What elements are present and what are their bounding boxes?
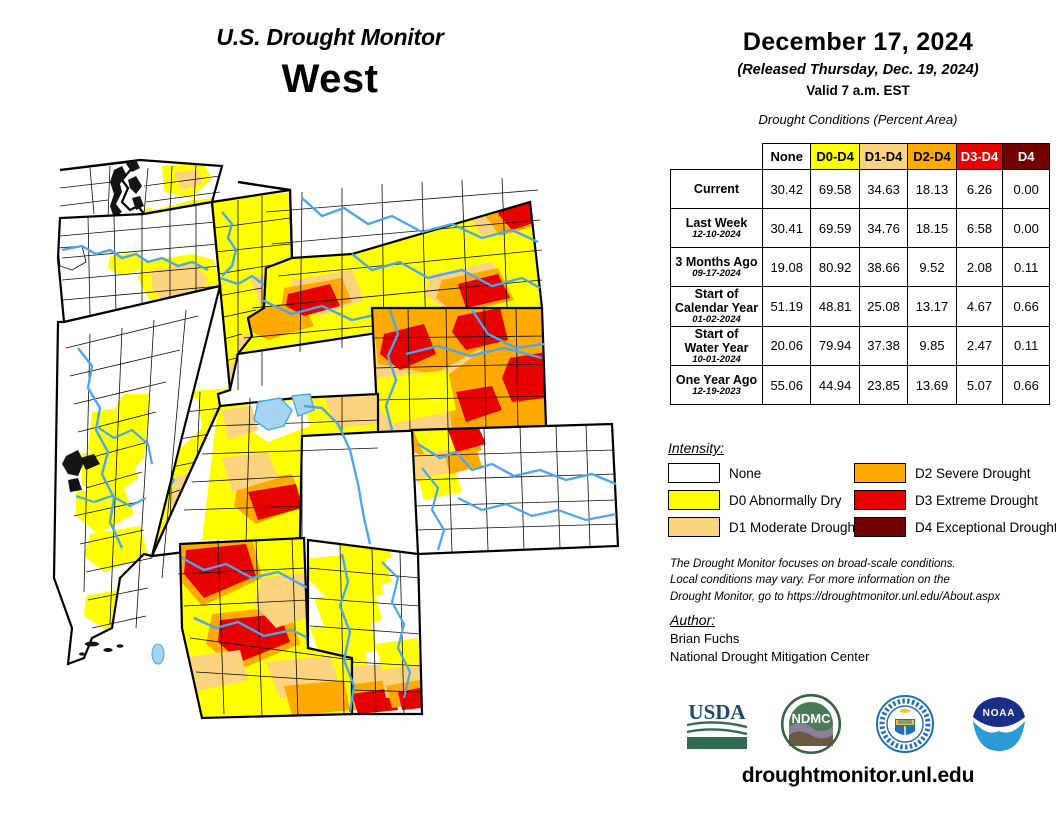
cell-value: 37.38 — [859, 326, 907, 366]
cell-value: 0.66 — [1003, 366, 1050, 405]
legend-label: D0 Abnormally Dry — [729, 493, 842, 508]
report-date: December 17, 2024 — [660, 28, 1056, 57]
cell-value: 38.66 — [859, 248, 907, 287]
legend-item-d0: D0 Abnormally Dry — [668, 490, 854, 510]
table-header-row: NoneD0-D4D1-D4D2-D4D3-D4D4 — [671, 144, 1050, 170]
us-drought-monitor-west-map[interactable] — [52, 158, 667, 773]
right-panel: December 17, 2024 (Released Thursday, De… — [660, 0, 1056, 816]
table-row: One Year Ago12-19-202355.0644.9423.8513.… — [671, 366, 1050, 405]
cell-value: 2.47 — [956, 326, 1003, 366]
legend-grid: NoneD2 Severe DroughtD0 Abnormally DryD3… — [668, 463, 1056, 537]
table-row: Start ofCalendar Year01-02-202451.1948.8… — [671, 287, 1050, 327]
author-title: Author: — [670, 612, 1050, 628]
column-header-d2-d4: D2-D4 — [908, 144, 956, 170]
column-header-d1-d4: D1-D4 — [859, 144, 907, 170]
cell-value: 48.81 — [811, 287, 859, 327]
legend-label: None — [729, 466, 761, 481]
intensity-legend: Intensity: NoneD2 Severe DroughtD0 Abnor… — [668, 440, 1056, 537]
legend-label: D3 Extreme Drought — [915, 493, 1038, 508]
svg-text:USDA: USDA — [688, 700, 746, 724]
header-blank-cell — [671, 144, 763, 170]
legend-item-d2: D2 Severe Drought — [854, 463, 1056, 483]
cell-value: 0.00 — [1003, 209, 1050, 248]
date-block: December 17, 2024 (Released Thursday, De… — [660, 0, 1056, 98]
noaa-seal-logo[interactable] — [869, 693, 941, 755]
legend-item-d4: D4 Exceptional Drought — [854, 517, 1056, 537]
cell-value: 30.42 — [763, 170, 811, 209]
cell-value: 18.15 — [908, 209, 956, 248]
svg-text:NDMC: NDMC — [792, 711, 832, 726]
table-header: NoneD0-D4D1-D4D2-D4D3-D4D4 — [671, 144, 1050, 170]
table-caption: Drought Conditions (Percent Area) — [660, 112, 1056, 127]
legend-swatch-d4 — [854, 517, 906, 537]
table-row: 3 Months Ago09-17-202419.0880.9238.669.5… — [671, 248, 1050, 287]
legend-label: D1 Moderate Drought — [729, 520, 859, 535]
legend-item-d3: D3 Extreme Drought — [854, 490, 1056, 510]
usda-logo[interactable]: USDA — [681, 693, 753, 755]
cell-value: 9.52 — [908, 248, 956, 287]
table-row: Current30.4269.5834.6318.136.260.00 — [671, 170, 1050, 209]
row-label: One Year Ago12-19-2023 — [671, 366, 763, 405]
cell-value: 19.08 — [763, 248, 811, 287]
row-label: Last Week12-10-2024 — [671, 209, 763, 248]
valid-time: Valid 7 a.m. EST — [660, 83, 1056, 98]
cell-value: 13.17 — [908, 287, 956, 327]
author-organization: National Drought Mitigation Center — [670, 649, 1050, 664]
cell-value: 0.11 — [1003, 326, 1050, 366]
cell-value: 69.59 — [811, 209, 859, 248]
cell-value: 51.19 — [763, 287, 811, 327]
table-row: Start ofWater Year10-01-202420.0679.9437… — [671, 326, 1050, 366]
legend-swatch-d3 — [854, 490, 906, 510]
cell-value: 4.67 — [956, 287, 1003, 327]
svg-text:NOAA: NOAA — [983, 708, 1016, 719]
cell-value: 18.13 — [908, 170, 956, 209]
release-date: (Released Thursday, Dec. 19, 2024) — [660, 62, 1056, 78]
cell-value: 69.58 — [811, 170, 859, 209]
column-header-d4: D4 — [1003, 144, 1050, 170]
cell-value: 2.08 — [956, 248, 1003, 287]
cell-value: 6.58 — [956, 209, 1003, 248]
cell-value: 5.07 — [956, 366, 1003, 405]
cell-value: 0.11 — [1003, 248, 1050, 287]
author-name: Brian Fuchs — [670, 631, 1050, 646]
cell-value: 0.66 — [1003, 287, 1050, 327]
cell-value: 55.06 — [763, 366, 811, 405]
cell-value: 80.92 — [811, 248, 859, 287]
cell-value: 34.63 — [859, 170, 907, 209]
cell-value: 6.26 — [956, 170, 1003, 209]
logo-row: USDA NDMC NOAA — [660, 688, 1056, 760]
cell-value: 20.06 — [763, 326, 811, 366]
row-label: Start ofCalendar Year01-02-2024 — [671, 287, 763, 327]
cell-value: 13.69 — [908, 366, 956, 405]
region-title: West — [0, 57, 660, 102]
row-label: 3 Months Ago09-17-2024 — [671, 248, 763, 287]
row-label: Start ofWater Year10-01-2024 — [671, 326, 763, 366]
title-block: U.S. Drought Monitor West — [0, 24, 660, 102]
column-header-d0-d4: D0-D4 — [811, 144, 859, 170]
drought-conditions-table: NoneD0-D4D1-D4D2-D4D3-D4D4 Current30.426… — [670, 143, 1050, 405]
cell-value: 34.76 — [859, 209, 907, 248]
site-url[interactable]: droughtmonitor.unl.edu — [660, 764, 1056, 788]
legend-label: D4 Exceptional Drought — [915, 520, 1056, 535]
cell-value: 25.08 — [859, 287, 907, 327]
page-title: U.S. Drought Monitor — [0, 24, 660, 51]
legend-item-none: None — [668, 463, 854, 483]
author-block: Author: Brian Fuchs National Drought Mit… — [670, 612, 1050, 664]
table-body: Current30.4269.5834.6318.136.260.00Last … — [671, 170, 1050, 405]
cell-value: 0.00 — [1003, 170, 1050, 209]
legend-swatch-d1 — [668, 517, 720, 537]
note-line: The Drought Monitor focuses on broad-sca… — [670, 556, 1050, 572]
cell-value: 9.85 — [908, 326, 956, 366]
row-label: Current — [671, 170, 763, 209]
legend-label: D2 Severe Drought — [915, 466, 1031, 481]
table-row: Last Week12-10-202430.4169.5934.7618.156… — [671, 209, 1050, 248]
ndmc-logo[interactable]: NDMC — [775, 693, 847, 755]
note-line: Drought Monitor, go to https://droughtmo… — [670, 589, 1050, 605]
disclaimer-note: The Drought Monitor focuses on broad-sca… — [670, 556, 1050, 605]
map-base — [52, 158, 667, 773]
cell-value: 23.85 — [859, 366, 907, 405]
noaa-logo[interactable]: NOAA — [963, 693, 1035, 755]
legend-title: Intensity: — [668, 440, 1056, 456]
legend-swatch-d0 — [668, 490, 720, 510]
legend-swatch-none — [668, 463, 720, 483]
legend-item-d1: D1 Moderate Drought — [668, 517, 854, 537]
cell-value: 30.41 — [763, 209, 811, 248]
map-svg[interactable] — [52, 158, 667, 773]
note-line: Local conditions may vary. For more info… — [670, 572, 1050, 588]
column-header-none: None — [763, 144, 811, 170]
column-header-d3-d4: D3-D4 — [956, 144, 1003, 170]
left-panel: U.S. Drought Monitor West — [0, 0, 660, 816]
cell-value: 44.94 — [811, 366, 859, 405]
legend-swatch-d2 — [854, 463, 906, 483]
cell-value: 79.94 — [811, 326, 859, 366]
